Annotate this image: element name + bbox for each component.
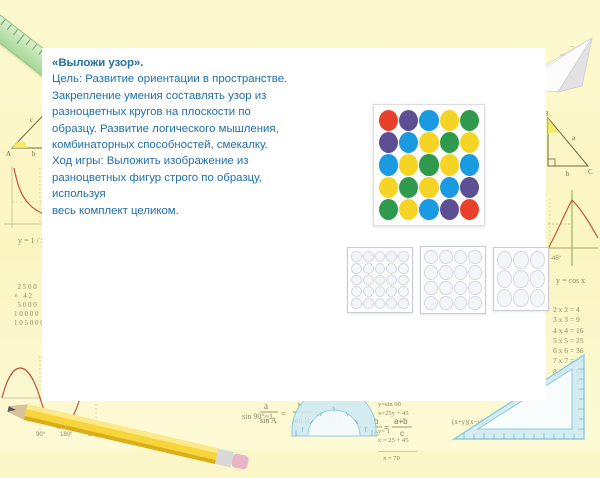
blank-hole <box>530 251 545 269</box>
page-title: «Выложи узор». <box>52 55 372 71</box>
pattern-dot-0-1 <box>399 110 418 131</box>
pattern-dot-3-3 <box>440 177 459 198</box>
pattern-dot-2-1 <box>399 154 418 175</box>
pattern-dot-0-3 <box>440 110 459 131</box>
blank-hole <box>375 286 386 297</box>
blank-hole <box>386 263 397 274</box>
blank-hole <box>439 250 453 264</box>
blank-hole <box>351 263 362 274</box>
blank-hole <box>386 275 397 286</box>
blank-hole <box>497 251 512 269</box>
blank-hole <box>439 281 453 295</box>
lesson-line-5: Ход игры: Выложить изображение из <box>52 153 372 169</box>
pattern-sample-card <box>373 104 485 226</box>
blank-hole <box>468 296 482 310</box>
blank-hole <box>386 298 397 309</box>
pattern-circle-grid <box>379 110 479 220</box>
blank-hole <box>513 270 528 288</box>
lesson-line-4: комбинаторных способностей, смекалку. <box>52 137 372 153</box>
pattern-dot-0-4 <box>460 110 479 131</box>
pattern-dot-1-1 <box>399 132 418 153</box>
blank-hole <box>363 298 374 309</box>
lesson-description: «Выложи узор». Цель: Развитие ориентации… <box>52 55 372 219</box>
blank-hole <box>398 263 409 274</box>
blank-hole <box>351 298 362 309</box>
blank-hole <box>424 250 438 264</box>
blank-template-4x4 <box>420 246 486 314</box>
blank-hole <box>386 286 397 297</box>
blank-hole <box>454 296 468 310</box>
blank-hole <box>513 251 528 269</box>
blank-grid-5x5 <box>351 251 409 309</box>
blank-hole <box>398 275 409 286</box>
lesson-line-0: Цель: Развитие ориентации в пространстве… <box>52 71 372 87</box>
blank-hole <box>468 250 482 264</box>
pattern-dot-3-4 <box>460 177 479 198</box>
blank-hole <box>363 263 374 274</box>
pattern-dot-1-0 <box>379 132 398 153</box>
pattern-dot-0-0 <box>379 110 398 131</box>
blank-hole <box>424 296 438 310</box>
blank-hole <box>398 286 409 297</box>
blank-hole <box>454 281 468 295</box>
blank-hole <box>363 275 374 286</box>
blank-hole <box>454 265 468 279</box>
pattern-dot-4-3 <box>440 199 459 220</box>
blank-hole <box>386 251 397 262</box>
pattern-dot-2-3 <box>440 154 459 175</box>
blank-hole <box>375 298 386 309</box>
lesson-line-8: весь комплект целиком. <box>52 203 372 219</box>
blank-template-5x5 <box>347 247 413 313</box>
lesson-line-7: используя <box>52 186 372 202</box>
blank-hole <box>398 251 409 262</box>
blank-hole <box>375 275 386 286</box>
pattern-dot-4-2 <box>419 199 438 220</box>
lesson-line-3: образцу. Развитие логического мышления, <box>52 121 372 137</box>
blank-hole <box>375 263 386 274</box>
slide-content-panel: «Выложи узор». Цель: Развитие ориентации… <box>42 48 546 401</box>
blank-hole <box>468 281 482 295</box>
blank-hole <box>439 265 453 279</box>
blank-hole <box>530 270 545 288</box>
blank-hole <box>424 265 438 279</box>
pattern-dot-4-1 <box>399 199 418 220</box>
blank-hole <box>398 298 409 309</box>
blank-hole <box>351 275 362 286</box>
lesson-line-6: разноцветных фигур строго по образцу, <box>52 170 372 186</box>
lesson-line-2: разноцветных кругов на плоскости по <box>52 104 372 120</box>
blank-hole <box>513 289 528 307</box>
blank-hole <box>530 289 545 307</box>
lesson-line-1: Закрепление умения составлять узор из <box>52 88 372 104</box>
blank-hole <box>439 296 453 310</box>
pattern-dot-1-2 <box>419 132 438 153</box>
pattern-dot-1-3 <box>440 132 459 153</box>
pattern-dot-2-0 <box>379 154 398 175</box>
pattern-dot-2-4 <box>460 154 479 175</box>
blank-hole <box>351 251 362 262</box>
blank-hole <box>424 281 438 295</box>
blank-grid-4x4 <box>424 250 482 310</box>
pattern-dot-0-2 <box>419 110 438 131</box>
pattern-dot-2-2 <box>419 154 438 175</box>
blank-hole <box>497 289 512 307</box>
blank-hole <box>454 250 468 264</box>
blank-template-3x3 <box>493 247 549 311</box>
blank-hole <box>468 265 482 279</box>
pattern-dot-1-4 <box>460 132 479 153</box>
blank-hole <box>351 286 362 297</box>
pattern-dot-3-0 <box>379 177 398 198</box>
pattern-dot-4-4 <box>460 199 479 220</box>
blank-hole <box>375 251 386 262</box>
pattern-dot-3-1 <box>399 177 418 198</box>
blank-hole <box>497 270 512 288</box>
pattern-dot-3-2 <box>419 177 438 198</box>
blank-hole <box>363 286 374 297</box>
blank-grid-3x3 <box>497 251 545 307</box>
blank-hole <box>363 251 374 262</box>
pattern-dot-4-0 <box>379 199 398 220</box>
